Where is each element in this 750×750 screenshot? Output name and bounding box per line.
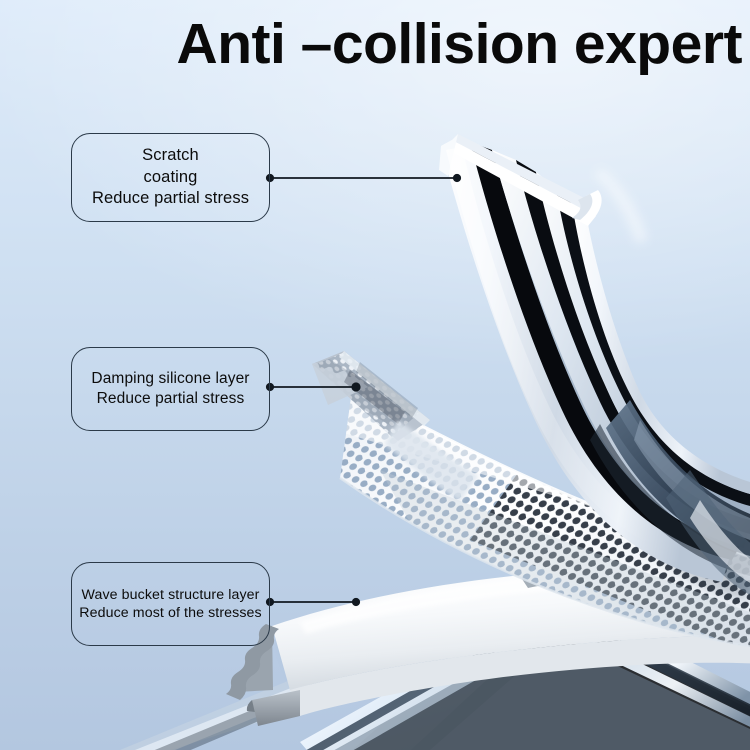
infographic-page: Anti –collision expert Scratch co — [0, 0, 750, 750]
callout-damping-silicone-layer: Damping silicone layer Reduce partial st… — [71, 347, 270, 431]
callout-wave-bucket-structure-layer: Wave bucket structure layer Reduce most … — [71, 562, 270, 646]
callout-scratch-coating: Scratch coating Reduce partial stress — [71, 133, 270, 222]
callout-line: Scratch — [92, 145, 249, 166]
callout-line: Damping silicone layer — [91, 369, 249, 389]
callout-line: coating — [92, 167, 249, 188]
callout-line: Reduce partial stress — [91, 389, 249, 409]
callout-line: Wave bucket structure layer — [79, 586, 262, 604]
callout-line: Reduce partial stress — [92, 188, 249, 209]
page-title: Anti –collision expert — [0, 16, 742, 73]
callout-line: Reduce most of the stresses — [79, 604, 262, 622]
